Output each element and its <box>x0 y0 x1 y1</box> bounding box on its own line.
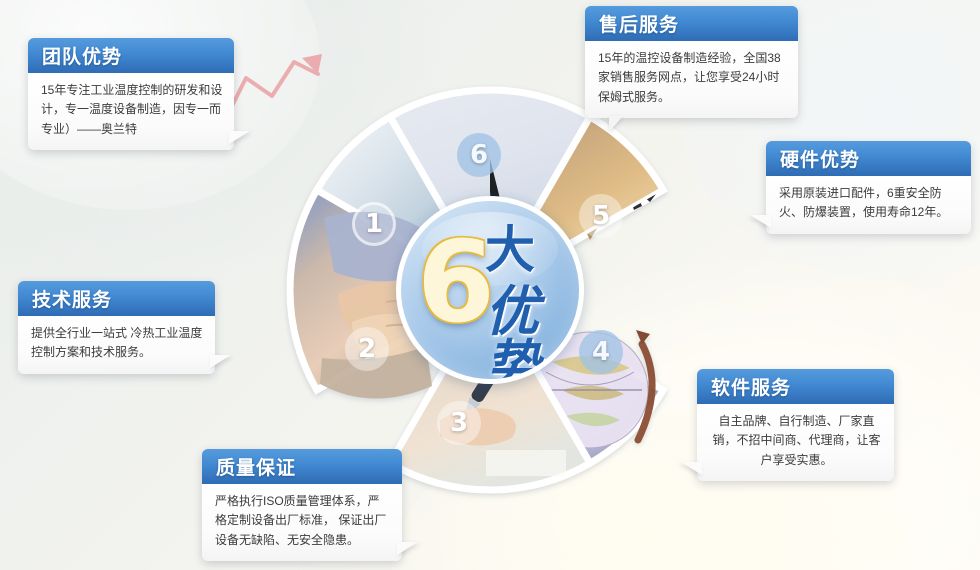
callout-card-quality[interactable]: 质量保证 严格执行ISO质量管理体系，严格定制设备出厂标准， 保证出厂设备无缺陷… <box>202 449 402 561</box>
callout-card-team[interactable]: 团队优势 15年专注工业温度控制的研发和设计，专一温度设备制造，因专一而专业）—… <box>28 38 234 150</box>
callout-text-quality: 严格执行ISO质量管理体系，严格定制设备出厂标准， 保证出厂设备无缺陷、无安全隐… <box>202 484 402 561</box>
callout-pointer-icon <box>210 355 231 368</box>
callout-pointer-icon <box>681 462 702 475</box>
infographic-canvas: iNTC 440.95 <box>0 0 980 570</box>
callout-title-quality: 质量保证 <box>202 449 402 484</box>
callout-title-hardware: 硬件优势 <box>766 141 971 176</box>
callout-pointer-icon <box>229 131 250 144</box>
segment-marker-4[interactable]: 4 <box>579 330 623 374</box>
callout-text-hardware: 采用原装进口配件，6重安全防火、防爆装置，使用寿命12年。 <box>766 176 971 234</box>
callout-title-team: 团队优势 <box>28 38 234 73</box>
callout-text-tech: 提供全行业一站式 冷热工业温度控制方案和技术服务。 <box>18 316 215 374</box>
callout-title-after-sales: 售后服务 <box>585 6 798 41</box>
callout-text-after-sales: 15年的温控设备制造经验，全国38家销售服务网点，让您享受24小时保姆式服务。 <box>585 41 798 118</box>
callout-card-after-sales[interactable]: 售后服务 15年的温控设备制造经验，全国38家销售服务网点，让您享受24小时保姆… <box>585 6 798 118</box>
hub-word-label: 优势 <box>485 285 579 384</box>
segment-marker-2[interactable]: 2 <box>345 327 389 371</box>
callout-card-software[interactable]: 软件服务 自主品牌、自行制造、厂家直销，不招中间商、代理商，让客户享受实惠。 <box>697 369 894 481</box>
callout-pointer-icon <box>609 116 623 132</box>
callout-card-tech[interactable]: 技术服务 提供全行业一站式 冷热工业温度控制方案和技术服务。 <box>18 281 215 374</box>
callout-card-hardware[interactable]: 硬件优势 采用原装进口配件，6重安全防火、防爆装置，使用寿命12年。 <box>766 141 971 234</box>
segment-marker-1[interactable]: 1 <box>352 202 396 246</box>
hub-number: 6 <box>417 227 495 339</box>
segment-marker-3[interactable]: 3 <box>437 401 481 445</box>
callout-pointer-icon <box>397 542 418 555</box>
callout-title-software: 软件服务 <box>697 369 894 404</box>
segment-marker-6[interactable]: 6 <box>457 133 501 177</box>
segment-marker-5[interactable]: 5 <box>579 194 623 238</box>
callout-title-tech: 技术服务 <box>18 281 215 316</box>
callout-text-software: 自主品牌、自行制造、厂家直销，不招中间商、代理商，让客户享受实惠。 <box>697 404 894 481</box>
center-hub: 6 大 优势 <box>396 196 584 384</box>
hub-unit-label: 大 <box>485 225 535 275</box>
callout-text-team: 15年专注工业温度控制的研发和设计，专一温度设备制造，因专一而专业）——奥兰特 <box>28 73 234 150</box>
callout-pointer-icon <box>750 215 771 228</box>
